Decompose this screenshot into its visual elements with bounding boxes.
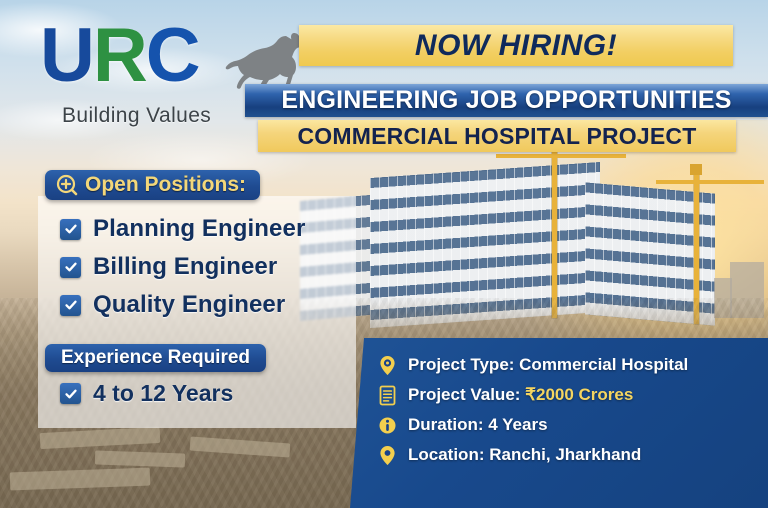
detail-row-duration: Duration: 4 Years bbox=[378, 410, 768, 440]
banner-commercial-hospital-project: COMMERCIAL HOSPITAL PROJECT bbox=[258, 120, 736, 152]
detail-row-project-value: Project Value: ₹2000 Crores bbox=[378, 380, 768, 410]
jumping-horse-icon bbox=[216, 30, 308, 92]
location-marker-icon bbox=[378, 355, 397, 376]
logo-letter-c: C bbox=[146, 13, 199, 98]
position-label: Quality Engineer bbox=[93, 291, 285, 319]
list-item: Quality Engineer bbox=[60, 286, 305, 324]
open-positions-list: Planning Engineer Billing Engineer Quali… bbox=[60, 210, 305, 324]
checkbox-checked-icon bbox=[60, 295, 81, 316]
experience-required-heading: Experience Required bbox=[45, 344, 266, 372]
open-positions-heading: Open Positions: bbox=[45, 170, 260, 200]
experience-value-row: 4 to 12 Years bbox=[60, 380, 233, 407]
checkbox-checked-icon bbox=[60, 219, 81, 240]
banner-now-hiring: NOW HIRING! bbox=[299, 25, 733, 66]
project-details-list: Project Type: Commercial Hospital Projec… bbox=[378, 350, 768, 470]
position-label: Planning Engineer bbox=[93, 215, 305, 243]
tower-crane-cab-2 bbox=[690, 164, 702, 175]
detail-row-project-type: Project Type: Commercial Hospital bbox=[378, 350, 768, 380]
tower-crane-mast-1 bbox=[552, 150, 557, 318]
detail-row-location: Location: Ranchi, Jharkhand bbox=[378, 440, 768, 470]
logo-letter-r: R bbox=[93, 13, 146, 98]
detail-text-location: Location: Ranchi, Jharkhand bbox=[408, 445, 641, 465]
checkbox-checked-icon bbox=[60, 383, 81, 404]
banner-engineering-jobs: ENGINEERING JOB OPPORTUNITIES bbox=[245, 84, 768, 117]
experience-required-label: Experience Required bbox=[61, 347, 250, 369]
open-positions-label: Open Positions: bbox=[85, 173, 246, 197]
zoom-in-circle-icon bbox=[56, 174, 78, 196]
logo-wordmark: URC bbox=[40, 18, 199, 94]
tower-crane-jib-1 bbox=[496, 154, 626, 158]
detail-text-project-type: Project Type: Commercial Hospital bbox=[408, 355, 688, 375]
list-item: Billing Engineer bbox=[60, 248, 305, 286]
position-label: Billing Engineer bbox=[93, 253, 277, 281]
checkbox-checked-icon bbox=[60, 257, 81, 278]
map-pin-icon bbox=[378, 445, 397, 466]
detail-text-project-value: Project Value: ₹2000 Crores bbox=[408, 385, 633, 405]
list-item: Planning Engineer bbox=[60, 210, 305, 248]
info-circle-icon bbox=[378, 415, 397, 436]
document-icon bbox=[378, 385, 397, 406]
tower-crane-jib-2 bbox=[656, 180, 764, 184]
logo-tagline: Building Values bbox=[62, 104, 211, 128]
experience-value: 4 to 12 Years bbox=[93, 380, 233, 407]
recruitment-poster: URC Building Values NOW HIRING! ENGINEER… bbox=[0, 0, 768, 508]
company-logo[interactable]: URC Building Values bbox=[40, 18, 280, 128]
logo-letter-u: U bbox=[40, 13, 93, 98]
detail-text-duration: Duration: 4 Years bbox=[408, 415, 548, 435]
